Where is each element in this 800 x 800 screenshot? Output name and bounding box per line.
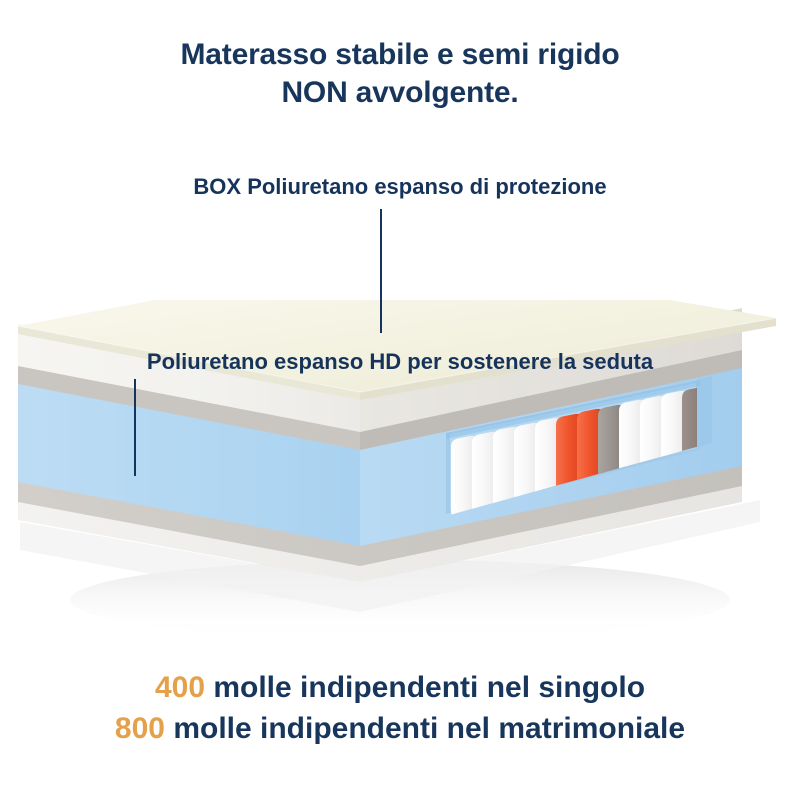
- headline-line-2: NON avvolgente.: [0, 74, 800, 112]
- spring-count-single: 400: [155, 671, 205, 704]
- footer-text-double: molle indipendenti nel matrimoniale: [165, 712, 685, 745]
- page-title: Materasso stabile e semi rigido NON avvo…: [0, 36, 800, 112]
- footer-line-double: 800 molle indipendenti nel matrimoniale: [0, 709, 800, 750]
- callout-label-box-protection: BOX Poliuretano espanso di protezione: [0, 174, 800, 200]
- footer-spring-counts: 400 molle indipendenti nel singolo 800 m…: [0, 668, 800, 750]
- leader-line-box-protection: [380, 209, 382, 333]
- headline-line-1: Materasso stabile e semi rigido: [0, 36, 800, 74]
- footer-line-single: 400 molle indipendenti nel singolo: [0, 668, 800, 709]
- infographic-canvas: Materasso stabile e semi rigido NON avvo…: [0, 0, 800, 800]
- callout-label-hd-foam: Poliuretano espanso HD per sostenere la …: [0, 349, 800, 375]
- footer-text-single: molle indipendenti nel singolo: [205, 671, 645, 704]
- leader-line-hd-foam: [134, 379, 136, 476]
- spring-count-double: 800: [115, 712, 165, 745]
